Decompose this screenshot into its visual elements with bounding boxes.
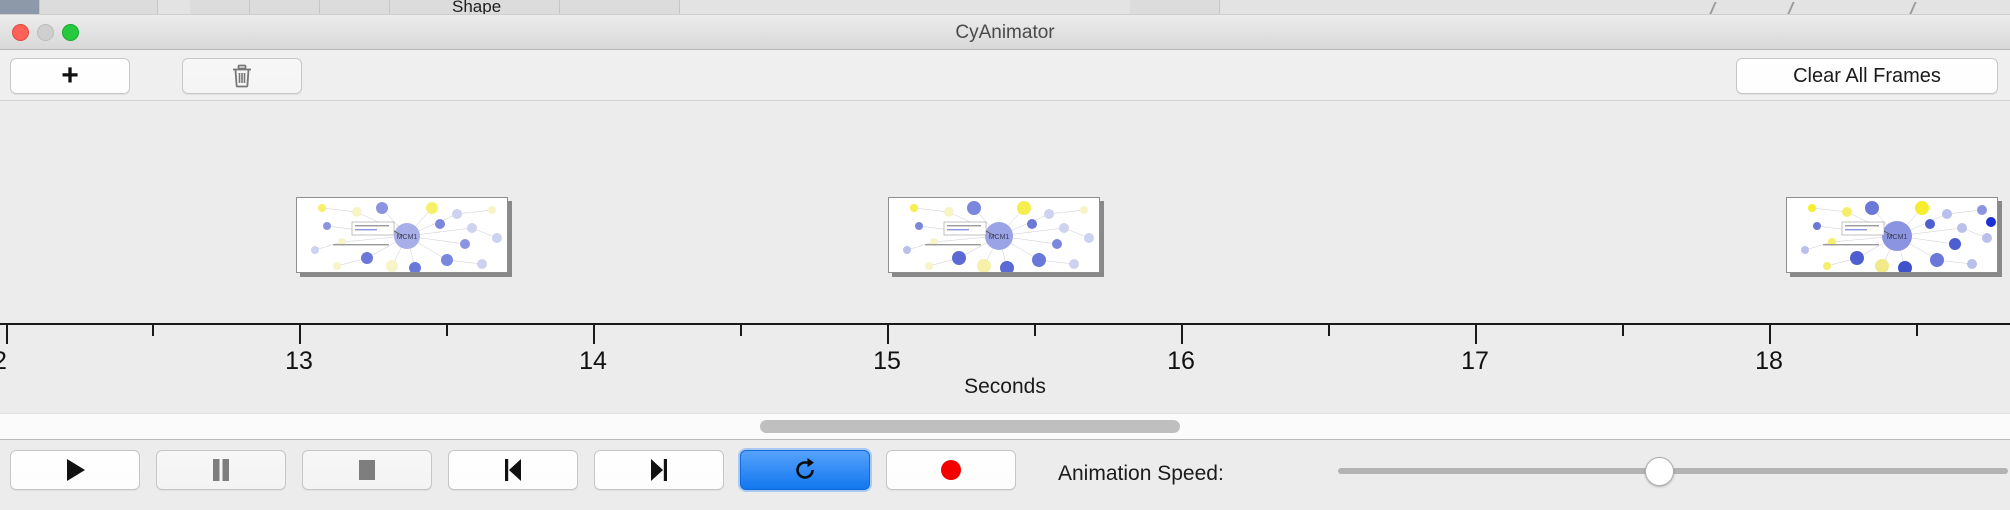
backdrop-chip — [1130, 0, 1220, 14]
animation-speed-label: Animation Speed: — [1058, 462, 1224, 486]
record-button[interactable] — [886, 450, 1016, 490]
ruler-tick-label: 16 — [1167, 347, 1195, 376]
ruler-minor-tick — [1034, 325, 1036, 336]
cyanimator-window: CyAnimator + Clear All Frames — [0, 14, 2010, 510]
frame-toolbar: + Clear All Frames — [0, 50, 2010, 101]
ruler-minor-tick — [446, 325, 448, 336]
pause-icon — [210, 457, 232, 483]
ruler-major-tick — [1475, 325, 1477, 344]
loop-icon — [792, 457, 818, 483]
timeline-frame-thumbnail[interactable]: MCM1 — [1786, 197, 1998, 273]
ruler-minor-tick — [1916, 325, 1918, 336]
ruler-tick-label: 2 — [0, 347, 7, 376]
ruler-major-tick — [887, 325, 889, 344]
ruler-major-tick — [1181, 325, 1183, 344]
backdrop-partial-label: Shape — [452, 0, 501, 14]
ruler-major-tick — [593, 325, 595, 344]
timeline-frame-thumbnail[interactable]: MCM1 — [296, 197, 508, 273]
stop-icon — [356, 457, 378, 483]
hub-node-label: MCM1 — [1887, 234, 1908, 241]
timeline-horizontal-scrollbar[interactable] — [0, 413, 2010, 439]
loop-button[interactable] — [740, 450, 870, 490]
backdrop-tick — [1709, 2, 1716, 14]
backdrop-tick — [1787, 2, 1794, 14]
ruler-minor-tick — [1622, 325, 1624, 336]
add-frame-button[interactable]: + — [10, 58, 130, 94]
play-icon — [63, 457, 87, 483]
window-titlebar: CyAnimator — [0, 15, 2010, 50]
network-graph-thumbnail: MCM1 — [889, 198, 1100, 273]
play-button[interactable] — [10, 450, 140, 490]
skip-back-icon — [502, 457, 524, 483]
playback-controls-bar: Animation Speed: — [0, 439, 2010, 500]
ruler-tick-label: 13 — [285, 347, 313, 376]
ruler-minor-tick — [152, 325, 154, 336]
backdrop-chip — [320, 0, 390, 14]
hub-node-label: MCM1 — [397, 234, 418, 241]
skip-forward-icon — [648, 457, 670, 483]
ruler-major-tick — [299, 325, 301, 344]
hub-node-label: MCM1 — [989, 234, 1010, 241]
timeline-frames-panel[interactable]: MCM1 — [0, 101, 2010, 325]
network-graph-thumbnail: MCM1 — [1787, 198, 1998, 273]
ruler-tick-label: 15 — [873, 347, 901, 376]
ruler-minor-tick — [1328, 325, 1330, 336]
backdrop-chip — [190, 0, 250, 14]
ruler-tick-label: 14 — [579, 347, 607, 376]
ruler-major-tick — [1769, 325, 1771, 344]
network-graph-thumbnail: MCM1 — [297, 198, 508, 273]
backdrop-chip — [0, 0, 40, 14]
clear-all-frames-label: Clear All Frames — [1793, 65, 1941, 88]
backdrop-tick — [1909, 2, 1916, 14]
plus-icon: + — [61, 61, 79, 91]
ruler-tick-label: 17 — [1461, 347, 1489, 376]
ruler-tick-label: 18 — [1755, 347, 1783, 376]
timeline-scroll-thumb[interactable] — [760, 420, 1180, 433]
seconds-axis-label: Seconds — [0, 375, 2010, 399]
timeline-frame-thumbnail[interactable]: MCM1 — [888, 197, 1100, 273]
delete-frame-button[interactable] — [182, 58, 302, 94]
next-frame-button[interactable] — [594, 450, 724, 490]
clear-all-frames-button[interactable]: Clear All Frames — [1736, 58, 1998, 94]
stop-button[interactable] — [302, 450, 432, 490]
record-icon — [939, 458, 963, 482]
timeline-ruler[interactable]: 2 13 14 15 16 17 18 Seconds — [0, 325, 2010, 413]
backdrop-chip — [40, 0, 158, 14]
desktop-backdrop: Shape — [0, 0, 2010, 14]
ruler-major-tick — [6, 325, 8, 344]
backdrop-chip — [250, 0, 320, 14]
ruler-minor-tick — [740, 325, 742, 336]
window-title: CyAnimator — [0, 15, 2010, 50]
previous-frame-button[interactable] — [448, 450, 578, 490]
pause-button[interactable] — [156, 450, 286, 490]
backdrop-chip — [560, 0, 680, 14]
animation-speed-slider-thumb[interactable] — [1645, 457, 1674, 486]
trash-icon — [231, 64, 253, 88]
